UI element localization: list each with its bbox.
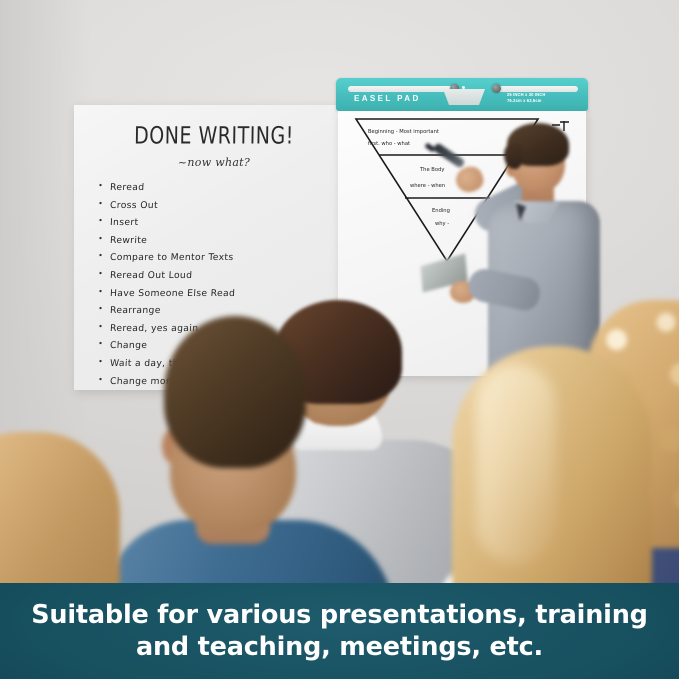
caption-text: Suitable for various presentations, trai… [7,599,671,663]
audience-hair-highlight [476,364,556,564]
caption-line-2: and teaching, meetings, etc. [31,631,647,663]
caption-banner: Suitable for various presentations, trai… [0,583,679,679]
audience [0,0,679,600]
product-lifestyle-image: DONE WRITING! ~now what? Reread Cross Ou… [0,0,679,679]
caption-line-1: Suitable for various presentations, trai… [31,599,647,631]
audience-hair [164,316,306,468]
